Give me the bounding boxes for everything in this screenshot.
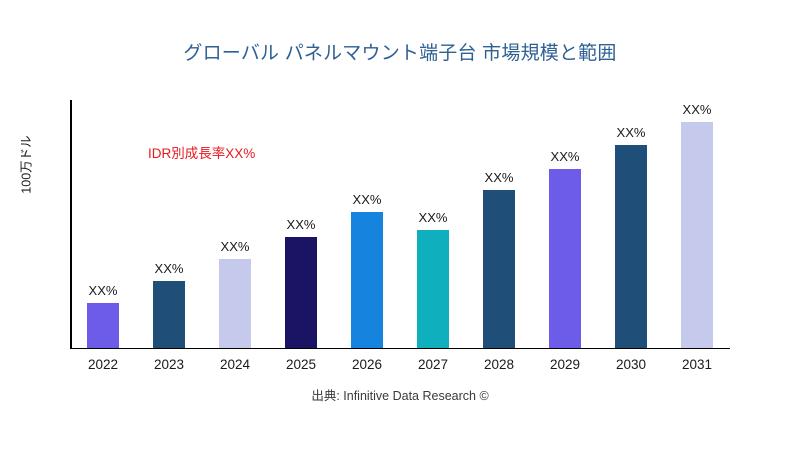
x-tick-2022: 2022 [70,357,136,372]
bar-value-label-2031: XX% [683,102,712,117]
x-tick-2023: 2023 [136,357,202,372]
x-tick-2026: 2026 [334,357,400,372]
source-note: 出典: Infinitive Data Research © [0,385,800,404]
bar-2024[interactable]: XX% [219,259,251,348]
bar-2026[interactable]: XX% [351,212,383,348]
bar-value-label-2023: XX% [155,261,184,276]
x-tick-2031: 2031 [664,357,730,372]
bar-value-label-2027: XX% [419,210,448,225]
x-tick-2029: 2029 [532,357,598,372]
bar-2028[interactable]: XX% [483,190,515,348]
bar-value-label-2024: XX% [221,239,250,254]
plot-area: XX%XX%XX%XX%XX%XX%XX%XX%XX%XX% [70,100,730,348]
bar-value-label-2029: XX% [551,149,580,164]
bar-value-label-2028: XX% [485,170,514,185]
bar-2025[interactable]: XX% [285,237,317,348]
x-tick-2028: 2028 [466,357,532,372]
bar-2027[interactable]: XX% [417,230,449,348]
bar-2029[interactable]: XX% [549,169,581,348]
y-axis-label: 100万ドル [16,95,35,235]
bar-2031[interactable]: XX% [681,122,713,348]
bar-value-label-2030: XX% [617,125,646,140]
bar-value-label-2022: XX% [89,283,118,298]
bar-2023[interactable]: XX% [153,281,185,348]
bar-value-label-2026: XX% [353,192,382,207]
x-tick-2030: 2030 [598,357,664,372]
bar-2030[interactable]: XX% [615,145,647,348]
chart-title: グローバル パネルマウント端子台 市場規模と範囲 [0,38,800,65]
bar-value-label-2025: XX% [287,217,316,232]
x-tick-2027: 2027 [400,357,466,372]
x-tick-2024: 2024 [202,357,268,372]
chart-figure: グローバル パネルマウント端子台 市場規模と範囲 100万ドル IDR別成長率X… [0,0,800,450]
x-tick-2025: 2025 [268,357,334,372]
bar-2022[interactable]: XX% [87,303,119,348]
